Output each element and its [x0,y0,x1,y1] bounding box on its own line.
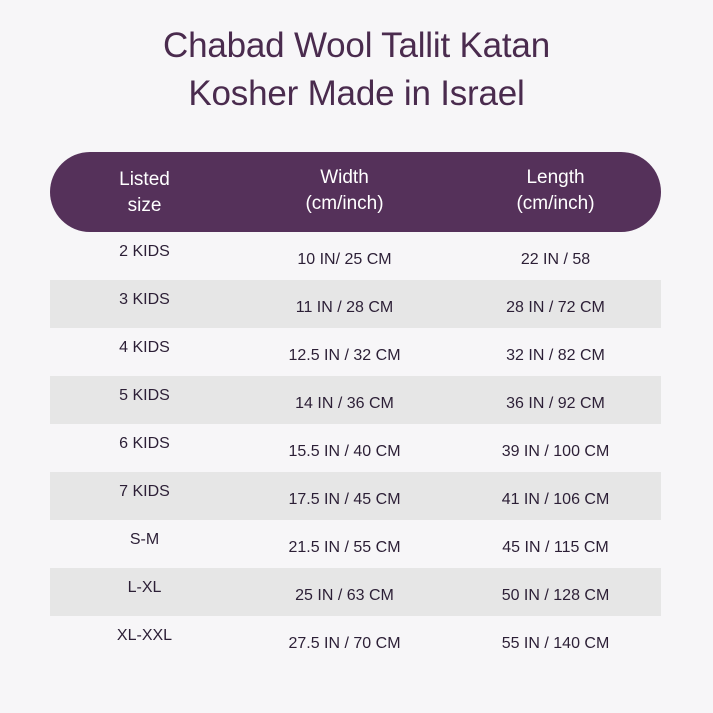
table-row: XL-XXL27.5 IN / 70 CM55 IN / 140 CM [50,616,661,664]
cell-width: 14 IN / 36 CM [239,394,450,414]
cell-length: 36 IN / 92 CM [450,394,661,414]
column-header-width-line-2: (cm/inch) [239,191,450,217]
table-row: S-M21.5 IN / 55 CM45 IN / 115 CM [50,520,661,568]
table-row: L-XL25 IN / 63 CM50 IN / 128 CM [50,568,661,616]
cell-size: 2 KIDS [50,242,239,262]
table-row: 3 KIDS11 IN / 28 CM28 IN / 72 CM [50,280,661,328]
cell-width: 25 IN / 63 CM [239,586,450,606]
page-title: Chabad Wool Tallit Katan Kosher Made in … [0,22,713,118]
column-header-length-line-2: (cm/inch) [450,191,661,217]
cell-size: 4 KIDS [50,338,239,358]
table-row: 5 KIDS14 IN / 36 CM36 IN / 92 CM [50,376,661,424]
cell-size: 6 KIDS [50,434,239,454]
cell-width: 12.5 IN / 32 CM [239,346,450,366]
column-header-width-line-1: Width [239,165,450,191]
column-header-listed-size: Listed size [50,165,239,219]
cell-length: 41 IN / 106 CM [450,490,661,510]
table-row: 6 KIDS15.5 IN / 40 CM39 IN / 100 CM [50,424,661,472]
cell-width: 11 IN / 28 CM [239,298,450,318]
cell-width: 27.5 IN / 70 CM [239,634,450,654]
cell-size: 3 KIDS [50,290,239,310]
cell-size: S-M [50,530,239,550]
cell-size: 5 KIDS [50,386,239,406]
page-title-line-2: Kosher Made in Israel [0,70,713,118]
size-chart-page: Chabad Wool Tallit Katan Kosher Made in … [0,0,713,713]
table-row: 4 KIDS12.5 IN / 32 CM32 IN / 82 CM [50,328,661,376]
cell-width: 17.5 IN / 45 CM [239,490,450,510]
cell-length: 55 IN / 140 CM [450,634,661,654]
column-header-listed-size-line-1: Listed [50,167,239,193]
table-header-row: Listed size Width (cm/inch) Length (cm/i… [50,152,661,232]
cell-width: 10 IN/ 25 CM [239,250,450,270]
cell-length: 32 IN / 82 CM [450,346,661,366]
size-table: Listed size Width (cm/inch) Length (cm/i… [50,152,661,664]
cell-length: 45 IN / 115 CM [450,538,661,558]
column-header-width: Width (cm/inch) [239,165,450,219]
column-header-length-line-1: Length [450,165,661,191]
column-header-length: Length (cm/inch) [450,165,661,219]
cell-length: 39 IN / 100 CM [450,442,661,462]
cell-size: L-XL [50,578,239,598]
cell-size: XL-XXL [50,626,239,646]
cell-width: 15.5 IN / 40 CM [239,442,450,462]
table-body: 2 KIDS10 IN/ 25 CM22 IN / 583 KIDS11 IN … [50,232,661,664]
cell-length: 22 IN / 58 [450,250,661,270]
cell-size: 7 KIDS [50,482,239,502]
cell-length: 28 IN / 72 CM [450,298,661,318]
page-title-line-1: Chabad Wool Tallit Katan [0,22,713,70]
table-row: 2 KIDS10 IN/ 25 CM22 IN / 58 [50,232,661,280]
cell-width: 21.5 IN / 55 CM [239,538,450,558]
cell-length: 50 IN / 128 CM [450,586,661,606]
table-row: 7 KIDS17.5 IN / 45 CM41 IN / 106 CM [50,472,661,520]
column-header-listed-size-line-2: size [50,193,239,219]
